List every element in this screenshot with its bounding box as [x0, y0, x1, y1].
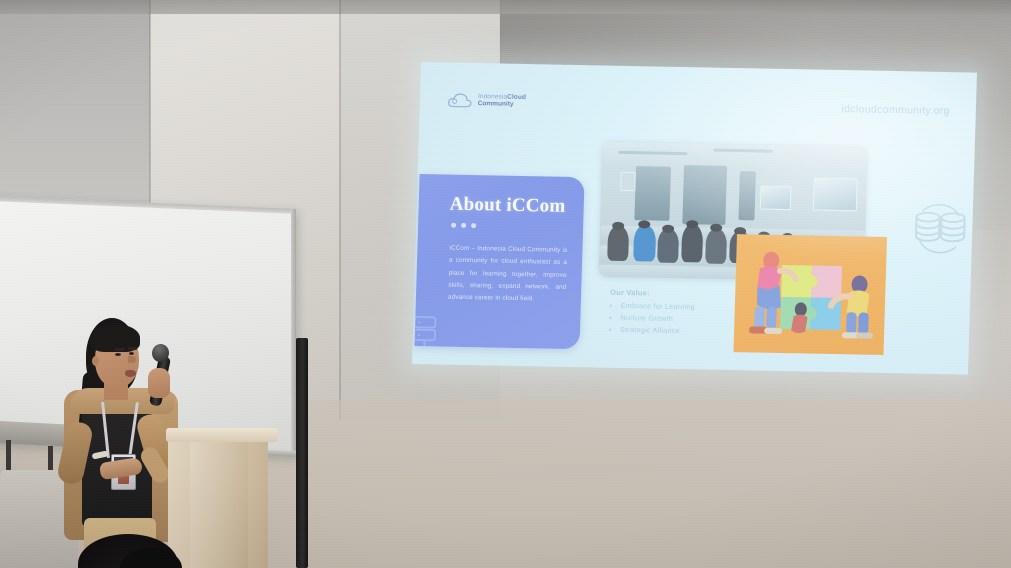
photo-scene: IndonesiaCloud Community idcloudcommunit…	[0, 0, 1011, 568]
vignette	[0, 0, 1011, 568]
